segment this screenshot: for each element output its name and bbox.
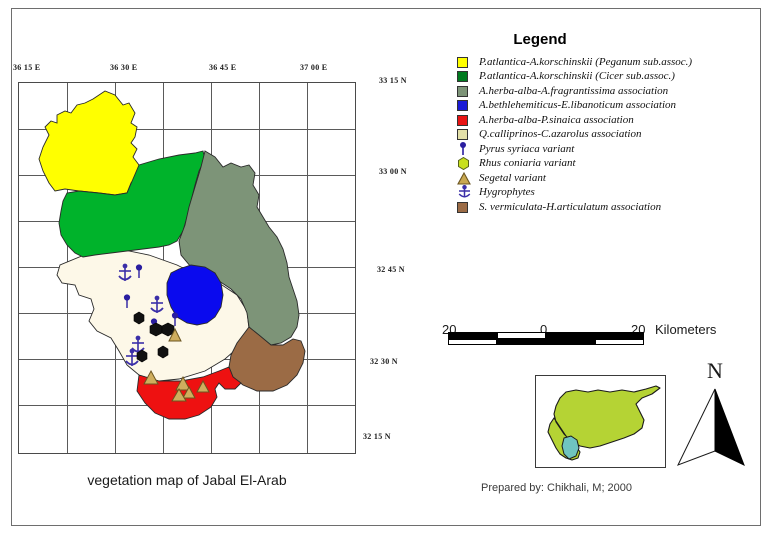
legend-swatch-icon bbox=[457, 99, 479, 113]
north-arrow: N bbox=[672, 358, 758, 470]
legend-swatch-icon bbox=[457, 128, 479, 142]
latitude-label-33-15-N: 33 15 N bbox=[379, 76, 407, 85]
legend-item-label: Hygrophytes bbox=[479, 187, 535, 198]
scalebar-segment bbox=[546, 332, 595, 339]
legend-item-label: Rhus coniaria variant bbox=[479, 158, 576, 169]
scalebar-segment bbox=[546, 339, 595, 345]
legend-swatch-icon bbox=[457, 200, 479, 214]
legend-list: P.atlantica-A.korschinskii (Peganum sub.… bbox=[457, 55, 757, 215]
north-arrow-glyph bbox=[672, 385, 758, 470]
scalebar-segment bbox=[448, 339, 497, 345]
legend-item-a-herba-alba-a-fragrantissima[interactable]: A.herba-alba-A.fragrantissima associatio… bbox=[457, 84, 757, 99]
latitude-label-32-30-N: 32 30 N bbox=[370, 357, 398, 366]
latitude-label-33-00-N: 33 00 N bbox=[379, 167, 407, 176]
scalebar-segment bbox=[448, 332, 497, 339]
legend-swatch-icon bbox=[457, 55, 479, 69]
legend-item-p-atlantica-peganum[interactable]: P.atlantica-A.korschinskii (Peganum sub.… bbox=[457, 55, 757, 70]
legend-item-label: Segetal variant bbox=[479, 173, 546, 184]
legend-item-label: A.herba-alba-P.sinaica association bbox=[479, 115, 634, 126]
scalebar-units-label: Kilometers bbox=[655, 322, 716, 337]
map-page: 36 15 E 36 30 E 36 45 E 37 00 E 33 15 N … bbox=[0, 0, 774, 538]
legend-item-label: S. vermiculata-H.articulatum association bbox=[479, 202, 661, 213]
scalebar-segment bbox=[595, 339, 644, 345]
legend-item-segetal[interactable]: Segetal variant bbox=[457, 171, 757, 186]
legend-item-hygrophytes[interactable]: Hygrophytes bbox=[457, 186, 757, 201]
longitude-label-37-00-E: 37 00 E bbox=[300, 63, 327, 72]
legend-item-rhus-coniaria[interactable]: Rhus coniaria variant bbox=[457, 157, 757, 172]
pin-marker-icon bbox=[457, 142, 479, 156]
legend-item-label: P.atlantica-A.korschinskii (Cicer sub.as… bbox=[479, 71, 675, 82]
legend-title: Legend bbox=[440, 31, 640, 48]
longitude-label-36-45-E: 36 45 E bbox=[209, 63, 236, 72]
hexagon-marker-icon bbox=[457, 157, 479, 171]
legend-item-label: Pyrus syriaca variant bbox=[479, 144, 574, 155]
latitude-label-32-45-N: 32 45 N bbox=[377, 265, 405, 274]
scalebar-segment bbox=[497, 339, 546, 345]
latitude-label-32-15-N: 32 15 N bbox=[363, 432, 391, 441]
syria-outline bbox=[536, 376, 665, 467]
legend-swatch-icon bbox=[457, 84, 479, 98]
legend-item-p-atlantica-cicer[interactable]: P.atlantica-A.korschinskii (Cicer sub.as… bbox=[457, 70, 757, 85]
legend-item-label: Q.calliprinos-C.azarolus association bbox=[479, 129, 641, 140]
inset-locator-map[interactable] bbox=[535, 375, 666, 468]
scalebar-segment bbox=[497, 332, 546, 339]
legend-swatch-icon bbox=[457, 70, 479, 84]
vegetation-polygons bbox=[19, 83, 357, 455]
legend-item-s-vermiculata-h-articulatum[interactable]: S. vermiculata-H.articulatum association bbox=[457, 200, 757, 215]
longitude-label-36-15-E: 36 15 E bbox=[13, 63, 40, 72]
anchor-marker-icon bbox=[457, 186, 479, 200]
legend-item-label: A.herba-alba-A.fragrantissima associatio… bbox=[479, 86, 668, 97]
north-letter-label: N bbox=[672, 358, 758, 384]
longitude-label-36-30-E: 36 30 E bbox=[110, 63, 137, 72]
legend-item-a-bethlehemiticus-e-libanoticum[interactable]: A.bethlehemiticus-E.libanoticum associat… bbox=[457, 99, 757, 114]
triangle-marker-icon bbox=[457, 171, 479, 185]
map-canvas[interactable] bbox=[18, 82, 356, 454]
legend-item-a-herba-alba-p-sinaica[interactable]: A.herba-alba-P.sinaica association bbox=[457, 113, 757, 128]
scalebar-segment bbox=[595, 332, 644, 339]
legend-item-label: P.atlantica-A.korschinskii (Peganum sub.… bbox=[479, 57, 692, 68]
legend-item-pyrus-syriaca[interactable]: Pyrus syriaca variant bbox=[457, 142, 757, 157]
scale-bar bbox=[448, 332, 644, 345]
legend-item-label: A.bethlehemiticus-E.libanoticum associat… bbox=[479, 100, 676, 111]
legend-swatch-icon bbox=[457, 113, 479, 127]
page-title: vegetation map of Jabal El-Arab bbox=[18, 472, 356, 488]
legend-item-q-calliprinos-c-azarolus[interactable]: Q.calliprinos-C.azarolus association bbox=[457, 128, 757, 143]
polygon-p-atlantica-peganum bbox=[39, 91, 139, 195]
credit-text: Prepared by: Chikhali, M; 2000 bbox=[481, 482, 632, 494]
